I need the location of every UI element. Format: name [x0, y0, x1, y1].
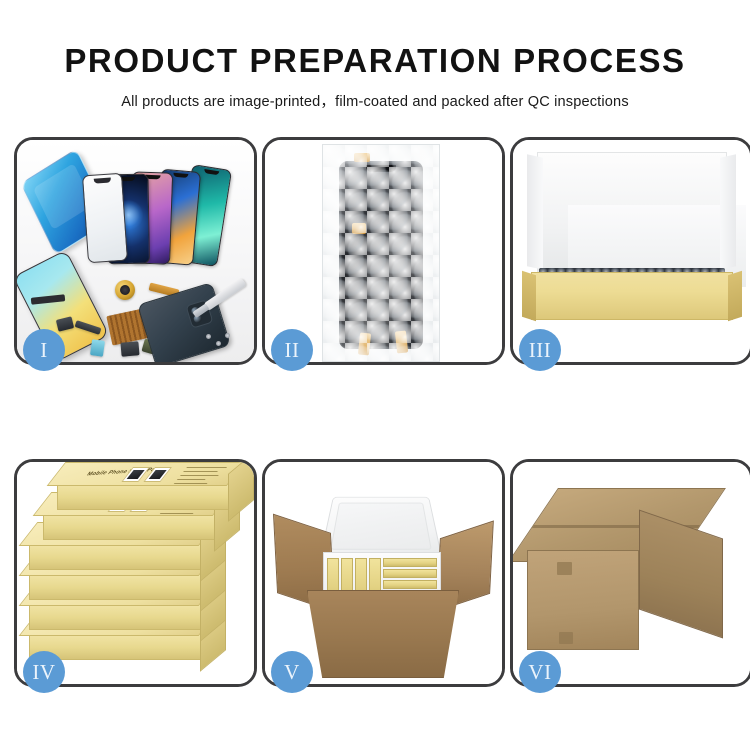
step-badge-3: III [519, 329, 561, 371]
step-panel-4: Mobile Phone Spare Parts Mobile Phone Sp… [14, 459, 257, 687]
carton-front-face [527, 550, 639, 650]
plastic-sheen [323, 145, 439, 361]
header: PRODUCT PREPARATION PROCESS All products… [0, 0, 750, 111]
step-panel-5: V [262, 459, 505, 687]
retail-box [29, 572, 205, 600]
kraft-box-base [531, 272, 733, 320]
bubble-wrap-scene [265, 140, 502, 362]
screen-glass-icon [82, 173, 128, 264]
box-flap-left [527, 154, 543, 269]
process-step-grid: I II [14, 137, 736, 737]
carton-side-face [639, 510, 723, 639]
step-image-5 [265, 462, 502, 684]
parts-scene [17, 140, 254, 362]
infographic-page: PRODUCT PREPARATION PROCESS All products… [0, 0, 750, 750]
foam-lid-icon [319, 497, 442, 559]
box-flap-right [720, 154, 736, 269]
retail-box [29, 602, 205, 630]
page-subtitle: All products are image-printed，film-coat… [0, 90, 750, 111]
retail-box: Mobile Phone Spare Parts [57, 482, 233, 510]
speaker-coil-icon [115, 280, 135, 300]
step-panel-1: I [14, 137, 257, 365]
yellow-box [383, 569, 437, 578]
component-chip-icon [120, 341, 139, 357]
box-stack: Mobile Phone Spare Parts Mobile Phone Sp… [29, 482, 243, 672]
step-badge-2: II [271, 329, 313, 371]
open-box-scene [513, 140, 750, 362]
step-panel-6: VI [510, 459, 750, 687]
label-spec-lines [173, 466, 234, 485]
step-image-3 [513, 140, 750, 362]
step-image-6 [513, 462, 750, 684]
step-badge-4: IV [23, 651, 65, 693]
carton-tab [559, 632, 573, 644]
carton-open-scene [265, 462, 502, 684]
retail-box: Mobile Phone Spare Parts [43, 512, 219, 540]
yellow-box [383, 580, 437, 589]
step-badge-5: V [271, 651, 313, 693]
page-title: PRODUCT PREPARATION PROCESS [0, 44, 750, 77]
step-image-2 [265, 140, 502, 362]
step-panel-3: III [510, 137, 750, 365]
step-image-4: Mobile Phone Spare Parts Mobile Phone Sp… [17, 462, 254, 684]
carton-body [307, 590, 459, 678]
stacked-boxes-scene: Mobile Phone Spare Parts Mobile Phone Sp… [17, 462, 254, 684]
step-badge-1: I [23, 329, 65, 371]
step-panel-2: II [262, 137, 505, 365]
yellow-box [383, 558, 437, 567]
phone-fan-group [91, 152, 254, 264]
retail-box [29, 542, 205, 570]
box-label: Mobile Phone Spare Parts [75, 465, 242, 487]
carton-tab [557, 562, 572, 575]
bubble-wrap-pouch [322, 144, 440, 362]
step-image-1 [17, 140, 254, 362]
component-chip-icon [90, 339, 105, 357]
step-badge-6: VI [519, 651, 561, 693]
sealed-carton-scene [513, 462, 750, 684]
box-lid-icon [537, 152, 727, 282]
screws-icon [206, 332, 232, 348]
